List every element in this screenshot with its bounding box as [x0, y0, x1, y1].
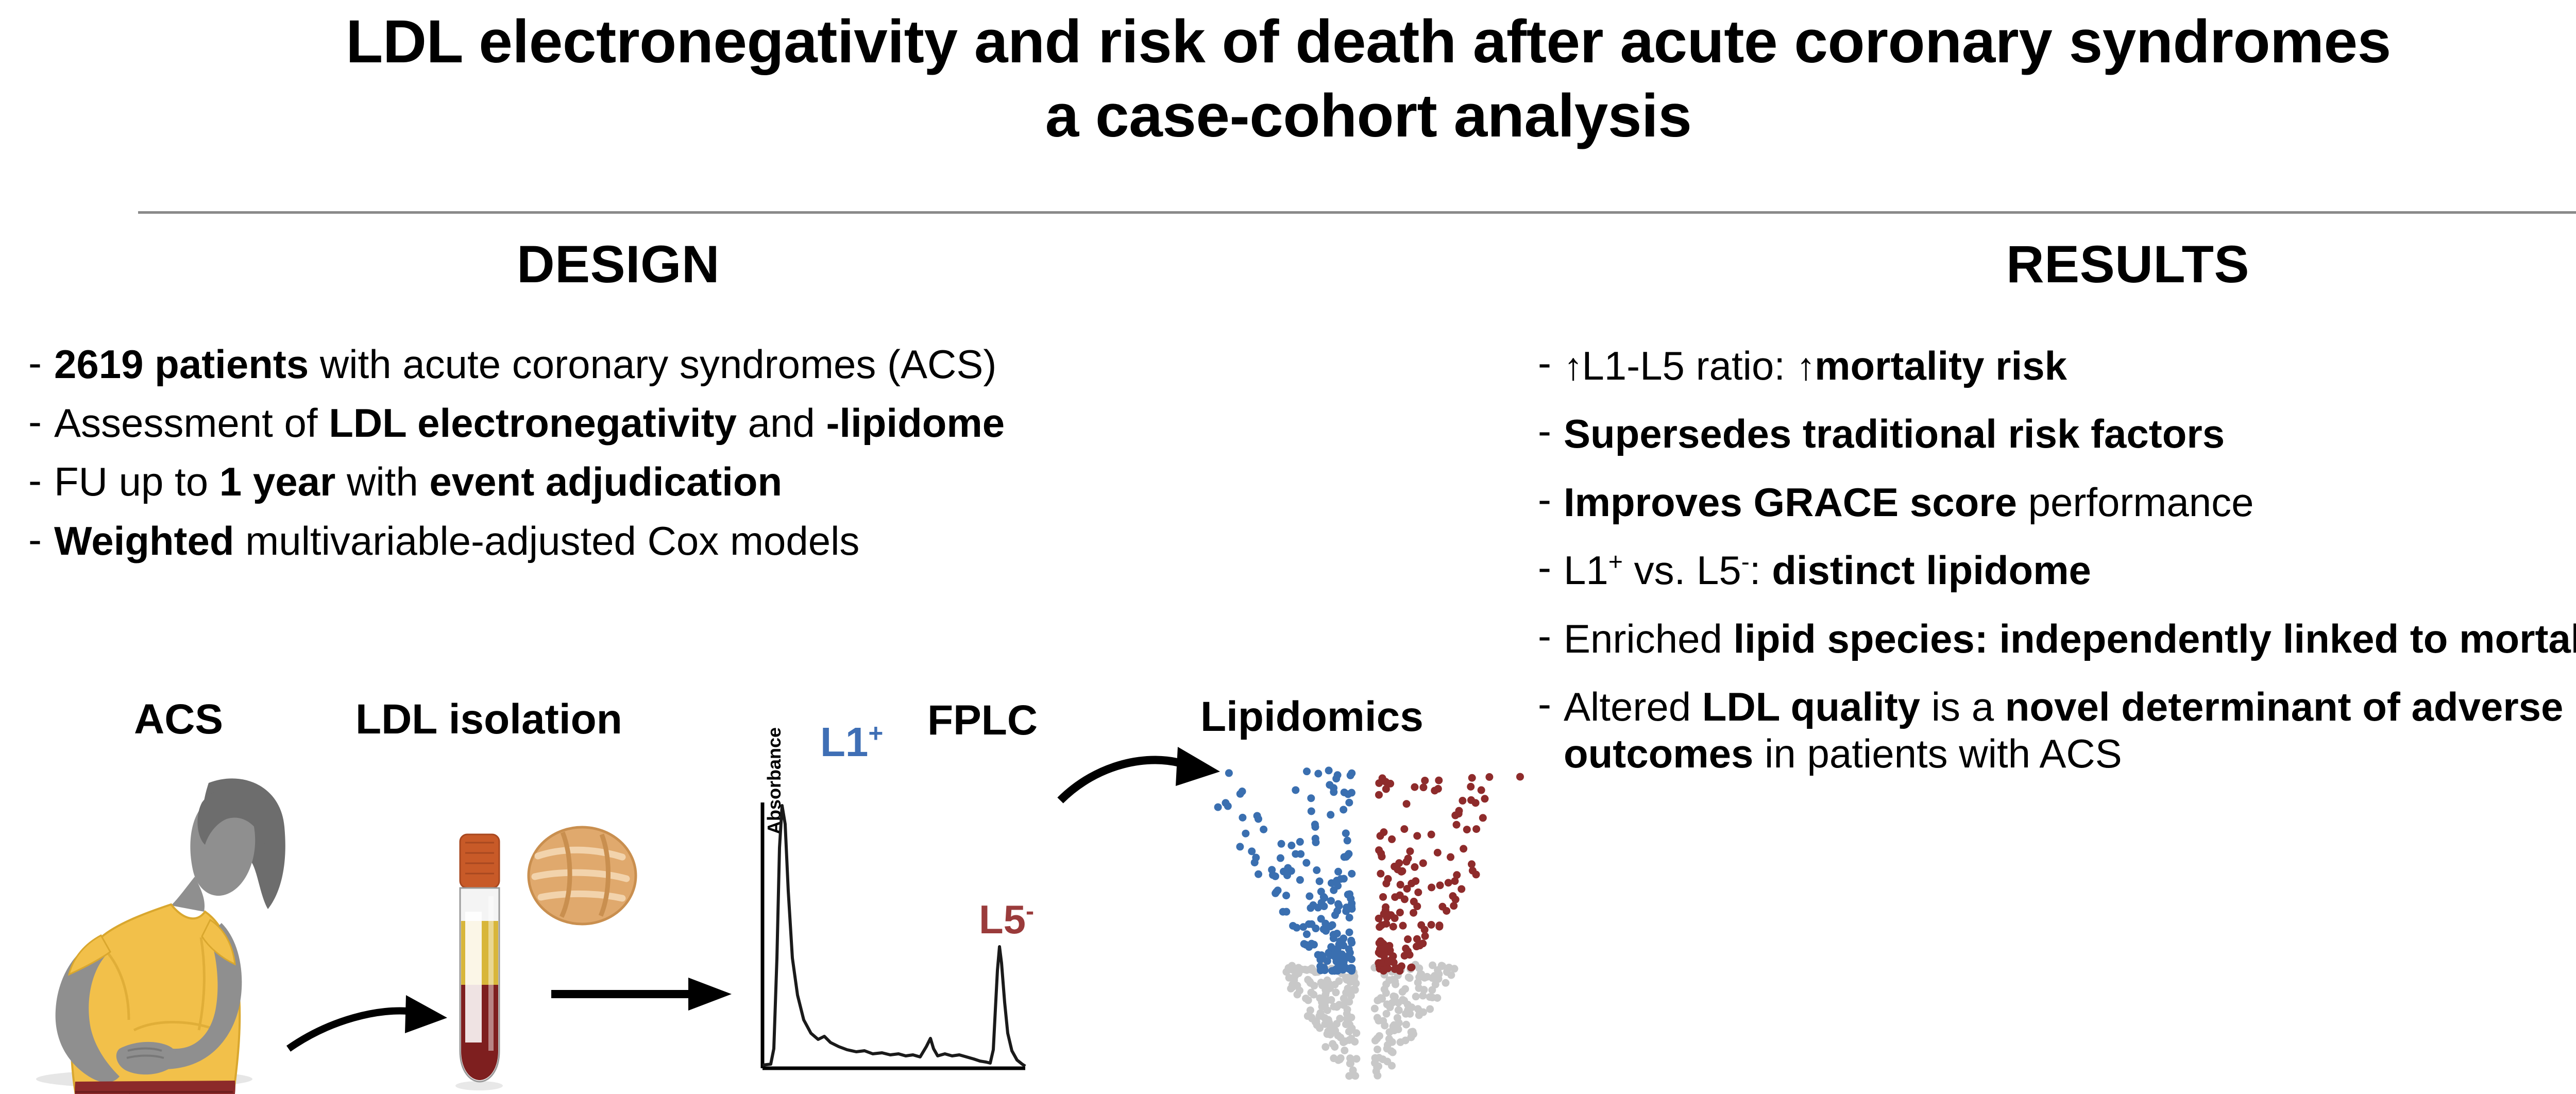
bullet-text: FU up to 1 year with event adjudication [54, 460, 782, 503]
volcano-point [1309, 901, 1317, 909]
volcano-point [1417, 921, 1425, 929]
volcano-point [1334, 964, 1342, 972]
volcano-point [1383, 1045, 1391, 1052]
volcano-point [1318, 982, 1326, 989]
volcano-point [1302, 859, 1310, 867]
volcano-point [1435, 777, 1443, 784]
volcano-point [1412, 993, 1420, 1000]
volcano-point [1445, 964, 1453, 971]
volcano-point [1460, 845, 1467, 852]
volcano-point [1316, 877, 1324, 885]
volcano-point [1346, 949, 1354, 956]
results-section-header: RESULTS [1690, 234, 2566, 295]
results-bullet-3: -L1+ vs. L5-: distinct lipidome [1538, 547, 2576, 593]
volcano-point [1458, 885, 1465, 893]
volcano-point [1404, 935, 1412, 943]
volcano-point [1391, 1027, 1398, 1034]
volcano-point [1406, 847, 1414, 855]
volcano-point [1253, 812, 1261, 819]
bullet-text: L1+ vs. L5-: distinct lipidome [1564, 547, 2091, 593]
volcano-point [1296, 876, 1304, 884]
volcano-point [1222, 799, 1229, 807]
volcano-point [1327, 811, 1334, 818]
volcano-point [1344, 851, 1351, 859]
volcano-point [1478, 787, 1485, 794]
volcano-point [1293, 924, 1300, 932]
volcano-point [1428, 921, 1435, 929]
volcano-point [1325, 766, 1333, 774]
bullet-text: Altered LDL quality is a novel determina… [1564, 683, 2576, 777]
design-section-header: DESIGN [155, 234, 1082, 295]
volcano-point [1435, 921, 1443, 929]
volcano-point [1272, 873, 1279, 880]
fplc-chromatogram [762, 802, 1025, 1068]
volcano-point [1347, 937, 1355, 945]
volcano-point [1377, 832, 1384, 840]
arrow-fplc-to-lipidomics [1060, 747, 1220, 800]
volcano-point [1342, 908, 1350, 915]
volcano-point [1351, 1038, 1359, 1046]
volcano-point [1419, 859, 1427, 867]
volcano-point [1346, 1059, 1354, 1067]
volcano-point [1313, 1021, 1321, 1029]
volcano-point [1391, 965, 1399, 973]
volcano-point [1459, 797, 1466, 805]
volcano-point [1309, 966, 1316, 974]
results-bullet-0: -↑L1-L5 ratio: ↑mortality risk [1538, 343, 2576, 389]
volcano-point [1401, 952, 1409, 960]
volcano-point [1348, 967, 1355, 975]
volcano-point [1341, 789, 1348, 796]
volcano-point [1455, 807, 1463, 815]
volcano-point [1429, 962, 1436, 969]
volcano-point [1327, 996, 1335, 1004]
volcano-point [1379, 774, 1386, 782]
figure-label-fplc: FPLC [927, 696, 1038, 745]
volcano-point [1326, 781, 1333, 789]
title-line-2: a case-cohort analysis [0, 79, 2576, 153]
volcano-point [1405, 973, 1413, 981]
volcano-point [1317, 888, 1325, 896]
bullet-dash: - [28, 519, 54, 559]
volcano-point [1287, 842, 1295, 849]
bullet-dash: - [1538, 343, 1564, 383]
volcano-point [1415, 984, 1422, 992]
volcano-point [1351, 1072, 1359, 1080]
volcano-point [1406, 1010, 1414, 1018]
volcano-point [1382, 980, 1390, 988]
volcano-point [1392, 981, 1399, 988]
volcano-point [1447, 853, 1454, 861]
volcano-point [1394, 866, 1401, 874]
volcano-point [1375, 791, 1383, 799]
volcano-point [1334, 868, 1342, 876]
volcano-point [1327, 943, 1335, 951]
design-bullet-2: -FU up to 1 year with event adjudication [28, 460, 1512, 503]
volcano-point [1469, 867, 1477, 875]
volcano-point [1402, 945, 1410, 952]
volcano-point [1352, 1029, 1360, 1037]
volcano-point [1429, 974, 1436, 982]
volcano-point [1330, 934, 1337, 942]
volcano-point [1331, 1027, 1339, 1035]
volcano-point [1342, 829, 1350, 837]
volcano-point [1429, 994, 1436, 1001]
volcano-point [1327, 897, 1335, 904]
volcano-point [1428, 883, 1435, 891]
volcano-point [1371, 1037, 1379, 1045]
volcano-point [1397, 881, 1404, 888]
volcano-point [1419, 1008, 1427, 1016]
volcano-point [1410, 898, 1418, 905]
volcano-point [1344, 836, 1351, 844]
volcano-point [1345, 799, 1353, 807]
volcano-point [1340, 875, 1348, 883]
volcano-point [1382, 944, 1389, 952]
volcano-point [1346, 978, 1354, 986]
volcano-point [1379, 893, 1387, 901]
volcano-point [1401, 1036, 1409, 1044]
figure-label-acs: ACS [134, 695, 223, 744]
bullet-dash: - [28, 460, 54, 500]
volcano-point [1333, 907, 1341, 915]
volcano-point [1314, 951, 1322, 959]
volcano-point [1409, 1028, 1417, 1035]
design-bullet-0: -2619 patients with acute coronary syndr… [28, 343, 1512, 386]
volcano-point [1383, 1010, 1391, 1018]
volcano-point [1252, 854, 1260, 862]
lipidomics-volcano-plot [1214, 766, 1524, 1080]
volcano-point [1337, 1054, 1345, 1062]
volcano-point [1306, 893, 1313, 900]
volcano-point [1371, 1005, 1379, 1013]
volcano-point [1310, 941, 1318, 949]
volcano-point [1347, 992, 1355, 1000]
volcano-point [1274, 886, 1282, 894]
bullet-text: Improves GRACE score performance [1564, 479, 2254, 525]
volcano-point [1431, 787, 1438, 794]
volcano-point [1407, 964, 1415, 971]
volcano-point [1348, 789, 1355, 797]
volcano-point [1436, 881, 1444, 889]
volcano-point [1236, 843, 1244, 850]
bullet-dash: - [28, 343, 54, 383]
volcano-point [1279, 908, 1287, 916]
bullet-text: Supersedes traditional risk factors [1564, 411, 2225, 457]
volcano-point [1318, 1003, 1326, 1011]
results-bullet-1: -Supersedes traditional risk factors [1538, 411, 2576, 457]
volcano-point [1402, 1021, 1410, 1029]
volcano-point [1384, 959, 1392, 966]
volcano-point [1292, 850, 1299, 858]
volcano-point [1336, 1015, 1344, 1022]
volcano-point [1347, 895, 1354, 902]
volcano-point [1242, 830, 1249, 837]
volcano-point [1214, 804, 1222, 811]
volcano-point [1399, 988, 1406, 996]
volcano-point [1285, 964, 1293, 972]
volcano-point [1255, 870, 1262, 878]
volcano-point [1410, 909, 1417, 917]
volcano-point [1292, 786, 1299, 794]
figure-label-ldl-isolation: LDL isolation [355, 695, 622, 744]
volcano-point [1303, 930, 1311, 938]
volcano-point [1442, 979, 1449, 987]
results-bullet-5: -Altered LDL quality is a novel determin… [1538, 683, 2576, 777]
volcano-point [1395, 859, 1403, 867]
blood-tube-illustration [455, 834, 503, 1090]
volcano-point [1382, 907, 1389, 914]
volcano-point [1421, 932, 1429, 940]
bullet-dash: - [1538, 616, 1564, 656]
volcano-point [1479, 814, 1487, 822]
volcano-point [1348, 870, 1355, 878]
volcano-point [1308, 807, 1315, 815]
volcano-point [1445, 879, 1452, 886]
volcano-point [1419, 939, 1427, 947]
volcano-point [1332, 775, 1340, 782]
volcano-point [1412, 877, 1419, 885]
volcano-point [1375, 915, 1383, 922]
volcano-point [1313, 866, 1320, 874]
bullet-dash: - [1538, 479, 1564, 519]
volcano-point [1340, 1001, 1348, 1009]
volcano-point [1300, 940, 1308, 948]
volcano-point [1413, 832, 1421, 840]
volcano-point [1308, 920, 1315, 928]
volcano-point [1239, 814, 1246, 822]
volcano-point [1472, 799, 1480, 807]
patient-illustration [36, 778, 285, 1094]
volcano-point [1428, 986, 1436, 994]
volcano-point [1389, 923, 1397, 931]
volcano-point [1394, 1014, 1401, 1022]
volcano-point [1378, 921, 1385, 929]
page-title: LDL electronegativity and risk of death … [0, 5, 2576, 153]
volcano-point [1379, 1017, 1387, 1025]
ldl-particle-illustration [529, 827, 636, 924]
title-line-1: LDL electronegativity and risk of death … [0, 5, 2576, 79]
design-bullet-1: -Assessment of LDL electronegativity and… [28, 401, 1512, 445]
design-bullet-3: -Weighted multivariable-adjusted Cox mod… [28, 519, 1512, 562]
volcano-point [1278, 840, 1285, 848]
volcano-point [1463, 826, 1471, 833]
volcano-point [1225, 769, 1233, 777]
volcano-point [1260, 826, 1267, 833]
volcano-point [1296, 838, 1304, 846]
volcano-point [1331, 953, 1339, 961]
volcano-point [1295, 964, 1302, 971]
volcano-point [1317, 966, 1325, 973]
results-bullet-4: -Enriched lipid species: independently l… [1538, 616, 2576, 662]
figure-label-lipidomics: Lipidomics [1200, 693, 1423, 741]
volcano-point [1434, 849, 1442, 857]
volcano-point [1341, 1047, 1348, 1054]
volcano-point [1468, 774, 1476, 782]
bullet-text: ↑L1-L5 ratio: ↑mortality risk [1564, 343, 2067, 389]
volcano-point [1330, 788, 1337, 796]
volcano-point [1340, 806, 1347, 813]
volcano-point [1333, 1003, 1341, 1011]
volcano-point [1236, 790, 1244, 798]
volcano-point [1383, 1057, 1391, 1065]
volcano-point [1307, 794, 1315, 802]
volcano-point [1307, 989, 1315, 997]
volcano-point [1380, 952, 1388, 960]
bullet-dash: - [1538, 411, 1564, 451]
volcano-point [1289, 981, 1296, 988]
volcano-point [1347, 1014, 1355, 1021]
volcano-point [1346, 929, 1353, 936]
volcano-point [1419, 783, 1427, 791]
volcano-point [1287, 867, 1295, 875]
volcano-point [1411, 783, 1418, 791]
volcano-point [1382, 785, 1390, 793]
volcano-point [1282, 892, 1290, 899]
bullet-dash: - [28, 401, 54, 441]
volcano-point [1321, 1043, 1329, 1051]
volcano-point [1453, 871, 1461, 879]
volcano-point [1399, 922, 1407, 930]
volcano-point [1375, 846, 1383, 854]
volcano-point [1426, 1005, 1434, 1013]
volcano-point [1340, 1038, 1347, 1046]
volcano-point [1374, 997, 1381, 1004]
volcano-point [1395, 1006, 1402, 1014]
bullet-text: Assessment of LDL electronegativity and … [54, 401, 1005, 445]
volcano-point [1415, 964, 1423, 972]
volcano-point [1450, 902, 1458, 910]
volcano-point [1388, 835, 1396, 843]
graphical-abstract-page: LDL electronegativity and risk of death … [0, 0, 2576, 1094]
volcano-point [1414, 888, 1422, 896]
volcano-point [1383, 1000, 1391, 1008]
volcano-point [1312, 839, 1319, 846]
volcano-point [1481, 795, 1488, 802]
volcano-point [1399, 996, 1406, 1004]
bullet-text: 2619 patients with acute coronary syndro… [54, 343, 996, 386]
volcano-point [1403, 800, 1411, 808]
volcano-point [1307, 1006, 1314, 1014]
volcano-point [1304, 996, 1312, 1004]
volcano-point [1391, 893, 1399, 901]
volcano-point [1411, 863, 1418, 871]
volcano-point [1334, 900, 1342, 908]
volcano-point [1371, 1054, 1379, 1062]
volcano-point [1467, 783, 1475, 791]
volcano-point [1347, 772, 1354, 779]
volcano-point [1400, 825, 1408, 833]
volcano-point [1421, 777, 1429, 784]
volcano-point [1310, 982, 1318, 989]
volcano-point [1314, 770, 1322, 778]
volcano-point [1428, 831, 1435, 839]
bullet-dash: - [1538, 683, 1564, 724]
volcano-point [1331, 981, 1339, 988]
arrow-tube-to-fplc [551, 978, 732, 1011]
volcano-point [1339, 955, 1347, 963]
volcano-point [1334, 882, 1342, 890]
volcano-point [1291, 972, 1299, 980]
volcano-point [1329, 1040, 1336, 1048]
volcano-point [1516, 773, 1524, 781]
volcano-point [1468, 860, 1476, 868]
volcano-point [1438, 962, 1446, 970]
volcano-point [1404, 854, 1412, 862]
volcano-point [1438, 903, 1446, 911]
bullet-text: Enriched lipid species: independently li… [1564, 616, 2576, 662]
design-figure-panel [0, 742, 1525, 1094]
volcano-point [1472, 825, 1480, 833]
volcano-point [1396, 909, 1404, 916]
volcano-point [1303, 767, 1311, 775]
volcano-point [1320, 926, 1328, 933]
volcano-point [1403, 885, 1411, 893]
volcano-point [1382, 880, 1390, 887]
bullet-dash: - [1538, 547, 1564, 587]
volcano-point [1311, 823, 1319, 831]
volcano-point [1277, 854, 1284, 862]
design-bullet-list: -2619 patients with acute coronary syndr… [28, 343, 1512, 578]
volcano-point [1324, 1020, 1331, 1028]
volcano-point [1330, 1054, 1337, 1062]
arrow-patient-to-tube [289, 995, 447, 1049]
volcano-point [1374, 1046, 1381, 1053]
results-bullet-list: -↑L1-L5 ratio: ↑mortality risk-Supersede… [1538, 343, 2576, 798]
volcano-point [1485, 773, 1493, 781]
volcano-point [1304, 976, 1312, 984]
volcano-point [1377, 870, 1384, 878]
volcano-point [1453, 821, 1461, 829]
volcano-point [1329, 921, 1336, 929]
bullet-text: Weighted multivariable-adjusted Cox mode… [54, 519, 859, 562]
horizontal-divider [138, 211, 2576, 214]
volcano-point [1375, 1063, 1382, 1070]
results-bullet-2: -Improves GRACE score performance [1538, 479, 2576, 525]
